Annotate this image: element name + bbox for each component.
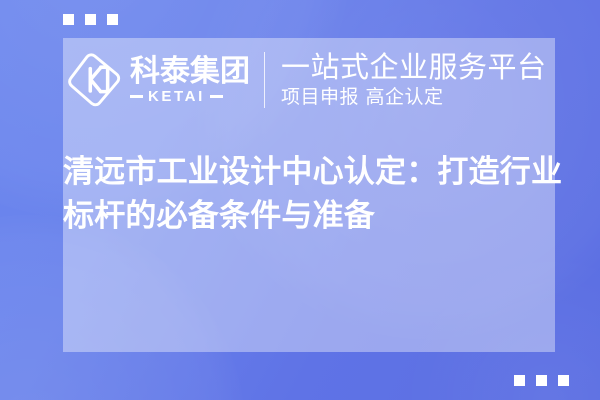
slogan-block: 一站式企业服务平台 项目申报 高企认定 — [281, 51, 547, 109]
square-dot-icon — [63, 14, 74, 25]
brand-name-en: KETAI — [148, 89, 205, 105]
promo-banner: 科泰集团 KETAI 一站式企业服务平台 项目申报 高企认定 清远市工业设计中心… — [0, 0, 600, 400]
vertical-divider — [264, 52, 265, 108]
brand-name-cn: 科泰集团 — [130, 56, 250, 87]
dots-decoration-top-left — [63, 14, 118, 25]
brand-name-en-row: KETAI — [130, 89, 250, 105]
ketai-diamond-kd-logo-icon — [68, 53, 122, 107]
square-dot-icon — [536, 375, 547, 386]
square-dot-icon — [514, 375, 525, 386]
article-headline: 清远市工业设计中心认定：打造行业标杆的必备条件与准备 — [63, 150, 563, 238]
brand-logo[interactable]: 科泰集团 KETAI — [68, 53, 250, 107]
rule-left-icon — [130, 95, 143, 98]
brand-wordmark: 科泰集团 KETAI — [130, 56, 250, 105]
square-dot-icon — [85, 14, 96, 25]
dots-decoration-bottom-right — [514, 375, 569, 386]
content-panel: 科泰集团 KETAI 一站式企业服务平台 项目申报 高企认定 清远市工业设计中心… — [63, 38, 555, 352]
brand-header: 科泰集团 KETAI 一站式企业服务平台 项目申报 高企认定 — [63, 38, 555, 122]
square-dot-icon — [558, 375, 569, 386]
square-dot-icon — [107, 14, 118, 25]
rule-right-icon — [210, 95, 223, 98]
slogan-secondary: 项目申报 高企认定 — [281, 85, 547, 109]
slogan-primary: 一站式企业服务平台 — [281, 51, 547, 84]
